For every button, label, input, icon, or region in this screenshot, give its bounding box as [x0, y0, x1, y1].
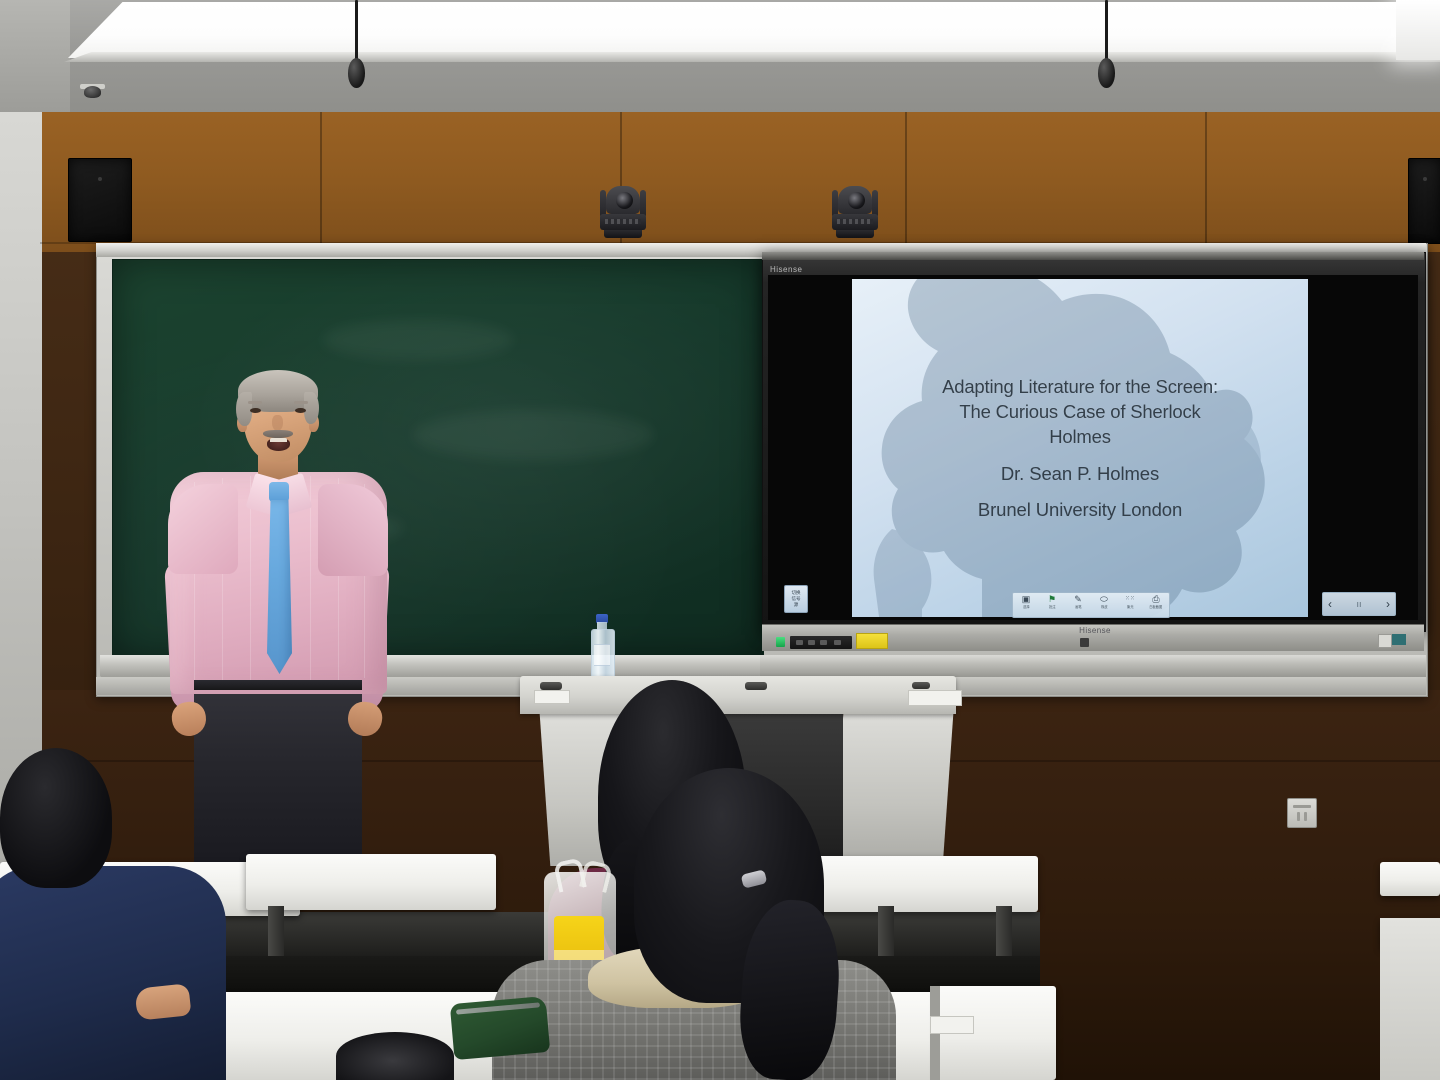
lectern-sticker-text — [909, 691, 961, 692]
toolbar-pointer-button[interactable]: ⚑ 批注 — [1042, 594, 1062, 610]
presenter-nose — [272, 415, 283, 431]
floor-strip-right — [1380, 918, 1440, 1080]
camera-mount — [604, 230, 642, 238]
source-button-line-3: 源 — [794, 602, 799, 608]
camera-base-vents — [605, 219, 641, 224]
display-brand-top-label: Hisense — [770, 263, 818, 275]
display-source-button[interactable]: 切换 信号 源 — [784, 585, 808, 613]
display-brand-bottom-label: Hisense — [1060, 626, 1130, 635]
lectern-knob-center[interactable] — [745, 682, 767, 690]
slide-author: Dr. Sean P. Holmes — [1001, 461, 1159, 486]
display-power-led — [776, 637, 785, 647]
pointer-flag-icon: ⚑ — [1048, 594, 1056, 605]
slide-affiliation: Brunel University London — [978, 497, 1182, 522]
port-vga[interactable] — [820, 640, 827, 645]
wall-speaker-left — [68, 158, 132, 242]
student-front-left-jacket — [0, 866, 226, 1080]
desk-row-back-center[interactable] — [246, 854, 496, 910]
presenter-tie-knot — [269, 482, 289, 502]
presenter-left-shoulder — [168, 484, 238, 574]
display-right-sticker — [1378, 634, 1392, 648]
desk-label-sticker — [930, 1016, 974, 1034]
lectern-knob-right[interactable] — [912, 682, 930, 689]
microphone-capsule — [348, 58, 365, 88]
ceiling-light-panel-right — [1396, 0, 1440, 60]
presenter-eye-left — [250, 408, 261, 413]
camera-head — [838, 186, 872, 214]
student-front-left — [0, 748, 248, 1080]
nav-divider: ıı — [1356, 599, 1361, 609]
student-front-left-hand — [134, 983, 191, 1020]
toolbar-eraser-button[interactable]: ⬭ 橡皮 — [1094, 594, 1114, 610]
slide-title-line-2: The Curious Case of Sherlock — [959, 399, 1200, 424]
chalk-smudge — [323, 320, 513, 360]
camera-mount — [836, 230, 874, 238]
presenter-right-shoulder — [318, 484, 388, 576]
slide-title-line-3: Holmes — [1049, 424, 1111, 449]
camera-base — [832, 214, 878, 230]
toolbar-label: 橡皮 — [1101, 605, 1107, 610]
microphone-capsule — [1098, 58, 1115, 88]
toolbar-label: 选择 — [1023, 605, 1029, 610]
wall-upper-paneling — [40, 112, 1440, 252]
camera-lens-icon — [848, 192, 865, 209]
speaker-tweeter-icon — [98, 177, 102, 181]
wall-outlet[interactable] — [1287, 798, 1317, 828]
screenshot-icon: ⎙ — [1152, 594, 1159, 605]
ptz-camera-right — [832, 186, 878, 240]
toolbar-spotlight-button[interactable]: ⁙⁙ 聚光 — [1120, 594, 1140, 610]
bottle-label — [594, 644, 610, 666]
toolbar-screenshot-button[interactable]: ⎙ 白板截图 — [1146, 594, 1166, 610]
desk-row-back-right[interactable] — [808, 856, 1038, 912]
outlet-slot — [1293, 805, 1311, 808]
previous-slide-icon[interactable]: ‹ — [1328, 598, 1332, 610]
spotlight-icon: ⁙⁙ — [1125, 594, 1135, 605]
dome-camera-icon — [84, 86, 101, 98]
presenter-teeth — [270, 438, 287, 442]
wall-seam — [1205, 112, 1207, 252]
speaker-tweeter-icon — [1423, 177, 1427, 181]
student-bottom-center-head — [336, 1032, 454, 1080]
grid-select-icon: ▣ — [1022, 594, 1031, 605]
presenter-moustache — [263, 430, 293, 438]
presentation-slide[interactable]: Adapting Literature for the Screen: The … — [852, 279, 1308, 617]
camera-head — [606, 186, 640, 214]
microphone-cable — [1105, 0, 1108, 62]
microphone-cable — [355, 0, 358, 62]
lectern-right-wing — [833, 714, 954, 866]
lectern-worktop[interactable] — [520, 676, 956, 714]
lectern-sticker-left — [534, 690, 570, 704]
display-right-accent — [1392, 634, 1406, 645]
toolbar-label: 白板截图 — [1150, 605, 1163, 610]
water-bottle[interactable] — [590, 614, 614, 680]
camera-lens-icon — [616, 192, 633, 209]
eraser-icon: ⬭ — [1100, 594, 1108, 605]
port-audio[interactable] — [834, 640, 841, 645]
wall-seam — [320, 112, 322, 252]
port-usb[interactable] — [796, 640, 803, 645]
port-hdmi[interactable] — [808, 640, 815, 645]
lectern-knob-left[interactable] — [540, 682, 562, 690]
wall-speaker-right — [1408, 158, 1440, 244]
display-port-panel[interactable] — [790, 636, 852, 649]
presenter-tie — [267, 500, 292, 674]
desk-row-back-far-right[interactable] — [1380, 862, 1440, 896]
next-slide-icon[interactable]: › — [1386, 598, 1390, 610]
outlet-slot — [1297, 812, 1300, 821]
board-chalk-ledge-right — [760, 655, 1426, 677]
ceiling-light-frame — [64, 52, 1440, 62]
ceiling-light-panel — [68, 2, 1430, 58]
camera-base — [600, 214, 646, 230]
chalk-smudge — [413, 410, 653, 460]
presenter-hair-side-right — [304, 392, 319, 424]
annotation-toolbar[interactable]: ▣ 选择 ⚑ 批注 ✎ 画笔 ⬭ 橡皮 ⁙⁙ 聚光 ⎙ 白板截图 — [1012, 592, 1170, 618]
slide-title-line-1: Adapting Literature for the Screen: — [942, 374, 1218, 399]
toolbar-label: 画笔 — [1075, 605, 1081, 610]
slide-text-block: Adapting Literature for the Screen: The … — [852, 279, 1308, 617]
lectern-sticker-right — [908, 690, 962, 706]
lectern-sticker-text — [535, 691, 569, 692]
display-power-button[interactable] — [1080, 638, 1089, 647]
toolbar-label: 聚光 — [1127, 605, 1133, 610]
presenter-eyebrow-left — [248, 401, 262, 404]
presenter-eye-right — [295, 408, 306, 413]
student-front-left-hair — [0, 748, 112, 888]
display-warning-label — [856, 633, 888, 649]
display-top-bezel — [762, 252, 1424, 260]
ptz-camera-left — [600, 186, 646, 240]
outlet-slot — [1304, 812, 1307, 821]
presenter-belt — [194, 680, 362, 690]
slide-navigation-controls[interactable]: ‹ ıı › — [1322, 592, 1396, 616]
camera-base-vents — [837, 219, 873, 224]
pen-icon: ✎ — [1074, 594, 1082, 605]
ceiling-left-slab — [0, 0, 70, 118]
lecture-hall-scene: Hisense Adapting Literature for the Scre… — [0, 0, 1440, 1080]
toolbar-grid-select-button[interactable]: ▣ 选择 — [1016, 594, 1036, 610]
toolbar-pen-button[interactable]: ✎ 画笔 — [1068, 594, 1088, 610]
wall-seam — [905, 112, 907, 252]
toolbar-label: 批注 — [1049, 605, 1055, 610]
presenter-eyebrow-right — [294, 401, 308, 404]
